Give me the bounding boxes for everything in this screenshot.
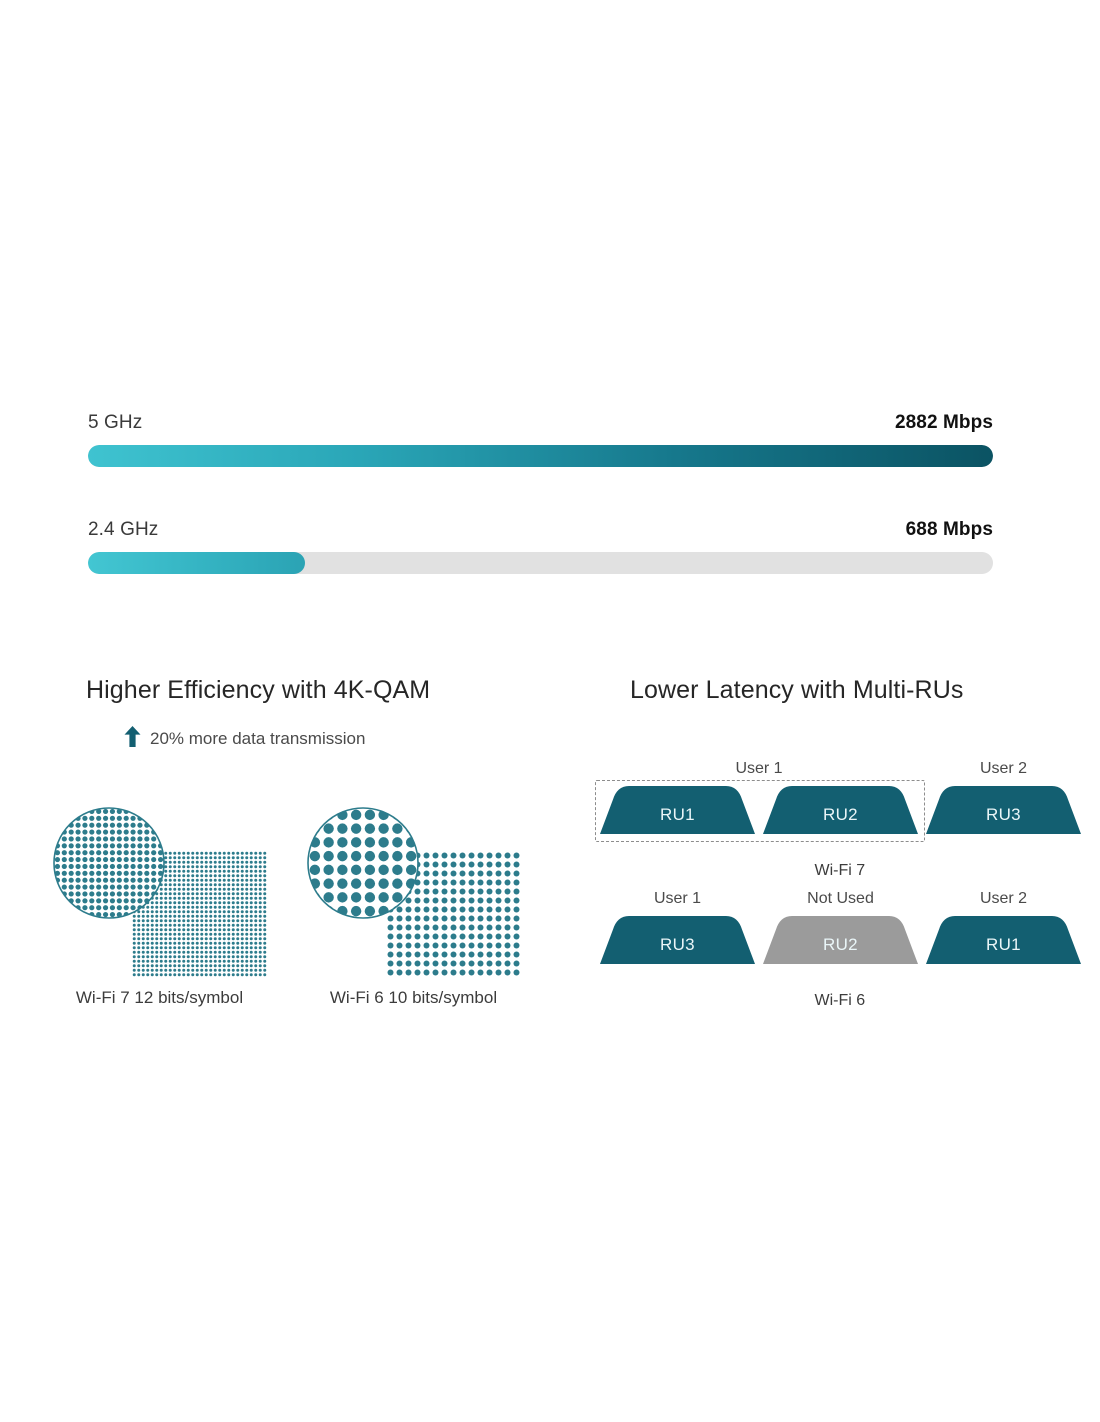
ru-units: RU3RU2RU1 (600, 916, 1020, 974)
ru-unit-ru2: RU2 (763, 786, 918, 834)
ru-units: RU1RU2RU3 (600, 786, 1020, 844)
qam-caption-wifi6: Wi-Fi 6 10 bits/symbol (306, 988, 521, 1008)
qam-graphic-wifi7 (52, 806, 267, 978)
qam-item-wifi6: Wi-Fi 6 10 bits/symbol (306, 806, 521, 978)
ru-section-title: Lower Latency with Multi-RUs (630, 676, 963, 705)
ru-diagram-section: User 1User 2RU1RU2RU3Wi-Fi 7User 1Not Us… (600, 760, 1020, 1010)
ru-user-label: User 2 (980, 890, 1027, 908)
speed-fill-5ghz (88, 445, 993, 467)
speed-row-header: 5 GHz 2882 Mbps (88, 412, 993, 434)
ru-row-wi-fi-7: User 1User 2RU1RU2RU3Wi-Fi 7 (600, 760, 1020, 880)
qam-graphic-wifi6 (306, 806, 521, 978)
speed-track-5ghz (88, 445, 993, 467)
up-arrow-icon (124, 726, 141, 752)
ru-unit-ru3: RU3 (926, 786, 1081, 834)
band-value-24ghz: 688 Mbps (906, 519, 993, 541)
band-label-5ghz: 5 GHz (88, 412, 142, 434)
ru-unit-ru1: RU1 (600, 786, 755, 834)
ru-unit-ru2: RU2 (763, 916, 918, 964)
ru-row-wi-fi-6: User 1Not UsedUser 2RU3RU2RU1Wi-Fi 6 (600, 890, 1020, 1010)
qam-item-wifi7: Wi-Fi 7 12 bits/symbol (52, 806, 267, 978)
band-value-5ghz: 2882 Mbps (895, 412, 993, 434)
ru-unit-ru3: RU3 (600, 916, 755, 964)
ru-user-label: User 1 (735, 760, 782, 778)
ru-user-label: Not Used (807, 890, 874, 908)
speed-row-header: 2.4 GHz 688 Mbps (88, 519, 993, 541)
band-label-24ghz: 2.4 GHz (88, 519, 158, 541)
speed-bars-section: 5 GHz 2882 Mbps 2.4 GHz 688 Mbps (88, 412, 993, 574)
speed-row-5ghz: 5 GHz 2882 Mbps (88, 412, 993, 467)
ru-unit-ru1: RU1 (926, 916, 1081, 964)
ru-user-labels: User 1Not UsedUser 2 (600, 890, 1020, 916)
qam-section-title: Higher Efficiency with 4K-QAM (86, 676, 430, 705)
ru-user-label: User 2 (980, 760, 1027, 778)
speed-track-24ghz (88, 552, 993, 574)
ru-user-label: User 1 (654, 890, 701, 908)
speed-fill-24ghz (88, 552, 305, 574)
ru-standard-label: Wi-Fi 7 (815, 862, 1021, 880)
qam-caption-wifi7: Wi-Fi 7 12 bits/symbol (52, 988, 267, 1008)
speed-row-24ghz: 2.4 GHz 688 Mbps (88, 519, 993, 574)
ru-standard-label: Wi-Fi 6 (815, 992, 1021, 1010)
qam-highlight-text: 20% more data transmission (150, 729, 365, 749)
qam-highlight-line: 20% more data transmission (124, 726, 365, 752)
